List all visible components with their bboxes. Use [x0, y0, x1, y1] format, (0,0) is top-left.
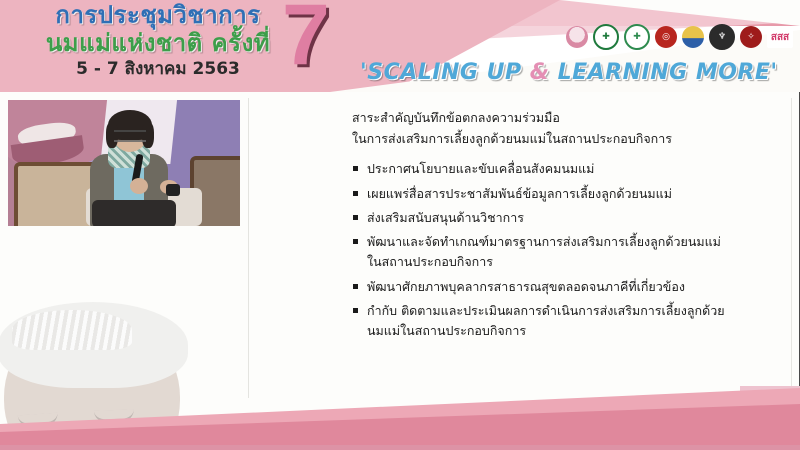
bottom-wave-edge	[0, 445, 800, 450]
conference-edition-number: 7	[282, 0, 330, 78]
thaihealth-sso-logo-icon: สสส	[767, 26, 793, 48]
ministry-of-public-health-logo-icon: ✚	[593, 24, 619, 50]
presentation-slide: การประชุมวิชาการ นมแม่แห่งชาติ ครั้งที่ …	[0, 0, 800, 450]
royal-patronage-emblem-icon	[566, 26, 588, 48]
slide-header-banner: การประชุมวิชาการ นมแม่แห่งชาติ ครั้งที่ …	[0, 0, 800, 92]
slide-content-text: สาระสำคัญบันทึกข้อตกลงความร่วมมือ ในการส…	[352, 108, 732, 345]
list-item: กำกับ ติดตามและประเมินผลการดำเนินการส่งเ…	[352, 301, 732, 342]
university-seal-icon: ♆	[709, 24, 735, 50]
conference-title-line1: การประชุมวิชาการ	[18, 2, 298, 30]
tagline-part-one: 'SCALING UP	[360, 60, 530, 85]
list-item: พัฒนาศักยภาพบุคลากรสาธารณสุขตลอดจนภาคีที…	[352, 277, 732, 297]
conference-tagline: 'SCALING UP & LEARNING MORE'	[360, 60, 778, 85]
slide-body: สาระสำคัญบันทึกข้อตกลงความร่วมมือ ในการส…	[0, 92, 800, 450]
panel-inner-guide-line	[791, 98, 792, 414]
sponsor-logo-row: ✚ ✚ ◎ ♆ ✧ สสส	[566, 24, 793, 50]
list-item: ประกาศนโยบายและขับเคลื่อนสังคมนมแม่	[352, 159, 732, 179]
content-column-divider	[248, 98, 249, 398]
content-lead-paragraph: สาระสำคัญบันทึกข้อตกลงความร่วมมือ ในการส…	[352, 108, 732, 149]
department-of-health-logo-icon: ✚	[624, 24, 650, 50]
conference-date: 5 - 7 สิงหาคม 2563	[18, 58, 298, 80]
list-item: เผยแพร่สื่อสารประชาสัมพันธ์ข้อมูลการเลี้…	[352, 184, 732, 204]
conference-title-line2: นมแม่แห่งชาติ ครั้งที่	[18, 30, 298, 58]
tagline-ampersand: &	[530, 60, 550, 85]
conference-title-block: การประชุมวิชาการ นมแม่แห่งชาติ ครั้งที่ …	[18, 2, 298, 80]
speaker-photo	[8, 100, 240, 226]
list-item: พัฒนาและจัดทำเกณฑ์มาตรฐานการส่งเสริมการเ…	[352, 232, 732, 273]
tagline-part-two: LEARNING MORE'	[549, 60, 777, 85]
lead-line-1: สาระสำคัญบันทึกข้อตกลงความร่วมมือ	[352, 108, 732, 129]
royal-thai-government-emblem-icon: ◎	[655, 26, 677, 48]
content-bullet-list: ประกาศนโยบายและขับเคลื่อนสังคมนมแม่ เผยแ…	[352, 159, 732, 341]
garuda-emblem-icon	[682, 26, 704, 48]
list-item: ส่งเสริมสนับสนุนด้านวิชาการ	[352, 208, 732, 228]
medical-council-emblem-icon: ✧	[740, 26, 762, 48]
lead-line-2: ในการส่งเสริมการเลี้ยงลูกด้วยนมแม่ในสถาน…	[352, 129, 732, 150]
